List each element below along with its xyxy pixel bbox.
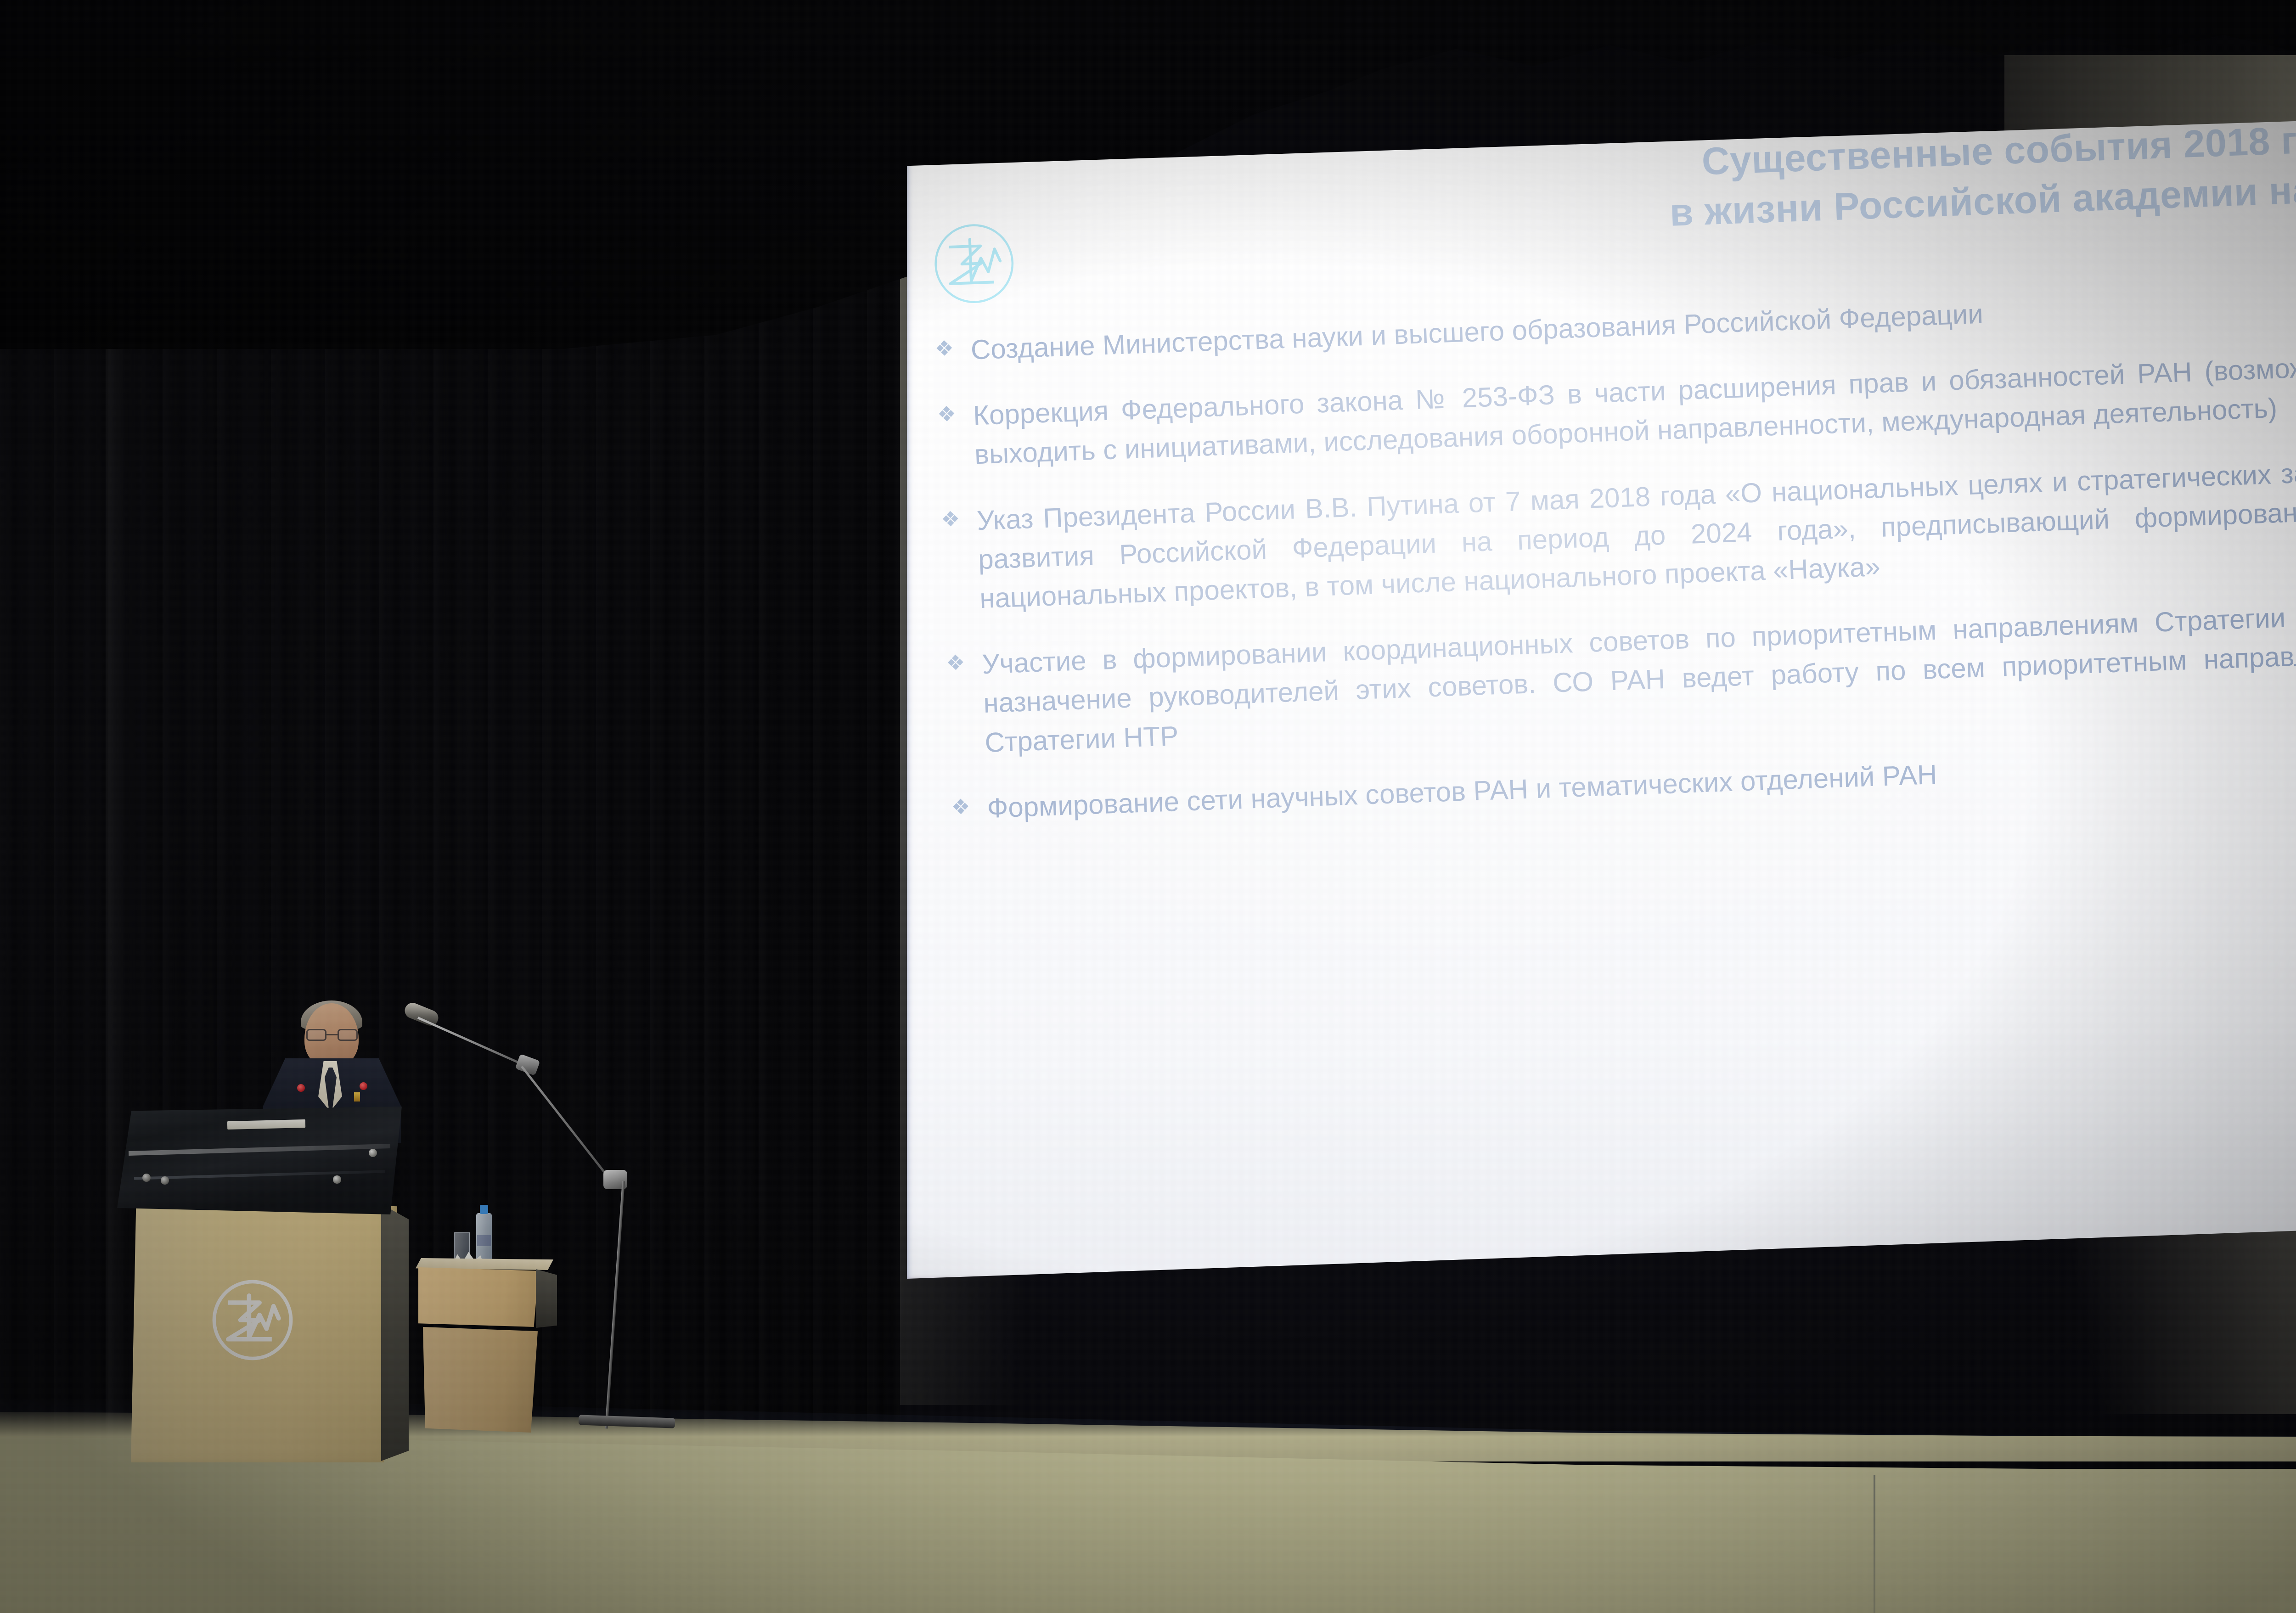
side-table-base — [423, 1327, 538, 1433]
podium-fastener — [333, 1175, 341, 1184]
side-table-side — [536, 1269, 557, 1328]
sb-ras-emblem-icon — [929, 219, 1019, 309]
side-table-front — [418, 1267, 539, 1327]
mic-stand-base — [579, 1415, 675, 1428]
podium-fastener — [369, 1149, 377, 1157]
bullet-text: Участие в формировании координационных с… — [981, 595, 2296, 762]
lecture-hall-scene: Существенные события 2018 года в жизни Р… — [0, 0, 2296, 1613]
lapel-pin-icon — [360, 1082, 367, 1090]
bullet-marker-icon: ❖ — [933, 396, 974, 432]
bullet-marker-icon: ❖ — [942, 645, 983, 680]
podium-fastener — [161, 1176, 169, 1185]
bullet-marker-icon: ❖ — [947, 789, 988, 825]
slide-bullet-list: ❖ Создание Министерства науки и высшего … — [931, 280, 2296, 856]
projection-screen: Существенные события 2018 года в жизни Р… — [907, 117, 2296, 1279]
bullet-marker-icon: ❖ — [931, 331, 972, 366]
podium-fastener — [142, 1174, 151, 1182]
floor-seam — [1874, 1475, 1875, 1613]
mic-stand-pole — [605, 1181, 625, 1428]
lapel-pin-icon — [297, 1084, 305, 1092]
bullet-marker-icon: ❖ — [937, 501, 978, 537]
list-item: ❖ Участие в формировании координационных… — [942, 595, 2296, 764]
bullet-text: Коррекция Федерального закона № 253-ФЗ в… — [973, 346, 2296, 474]
mic-boom-arm-upper — [417, 1017, 528, 1067]
list-item: ❖ Коррекция Федерального закона № 253-ФЗ… — [933, 346, 2296, 476]
lapel-badge-icon — [354, 1092, 360, 1102]
water-bottle — [476, 1213, 492, 1265]
mic-boom-arm-lower — [521, 1066, 616, 1186]
sb-ras-emblem-icon — [209, 1276, 296, 1364]
side-table — [416, 1258, 563, 1442]
slide-title: Существенные события 2018 года в жизни Р… — [1209, 117, 2296, 254]
list-item: ❖ Указ Президента России В.В. Путина от … — [937, 450, 2296, 619]
podium — [117, 1107, 409, 1462]
bullet-text: Указ Президента России В.В. Путина от 7 … — [976, 450, 2296, 618]
slide-content: Существенные события 2018 года в жизни Р… — [907, 117, 2296, 1278]
eyeglasses-icon — [306, 1029, 358, 1041]
